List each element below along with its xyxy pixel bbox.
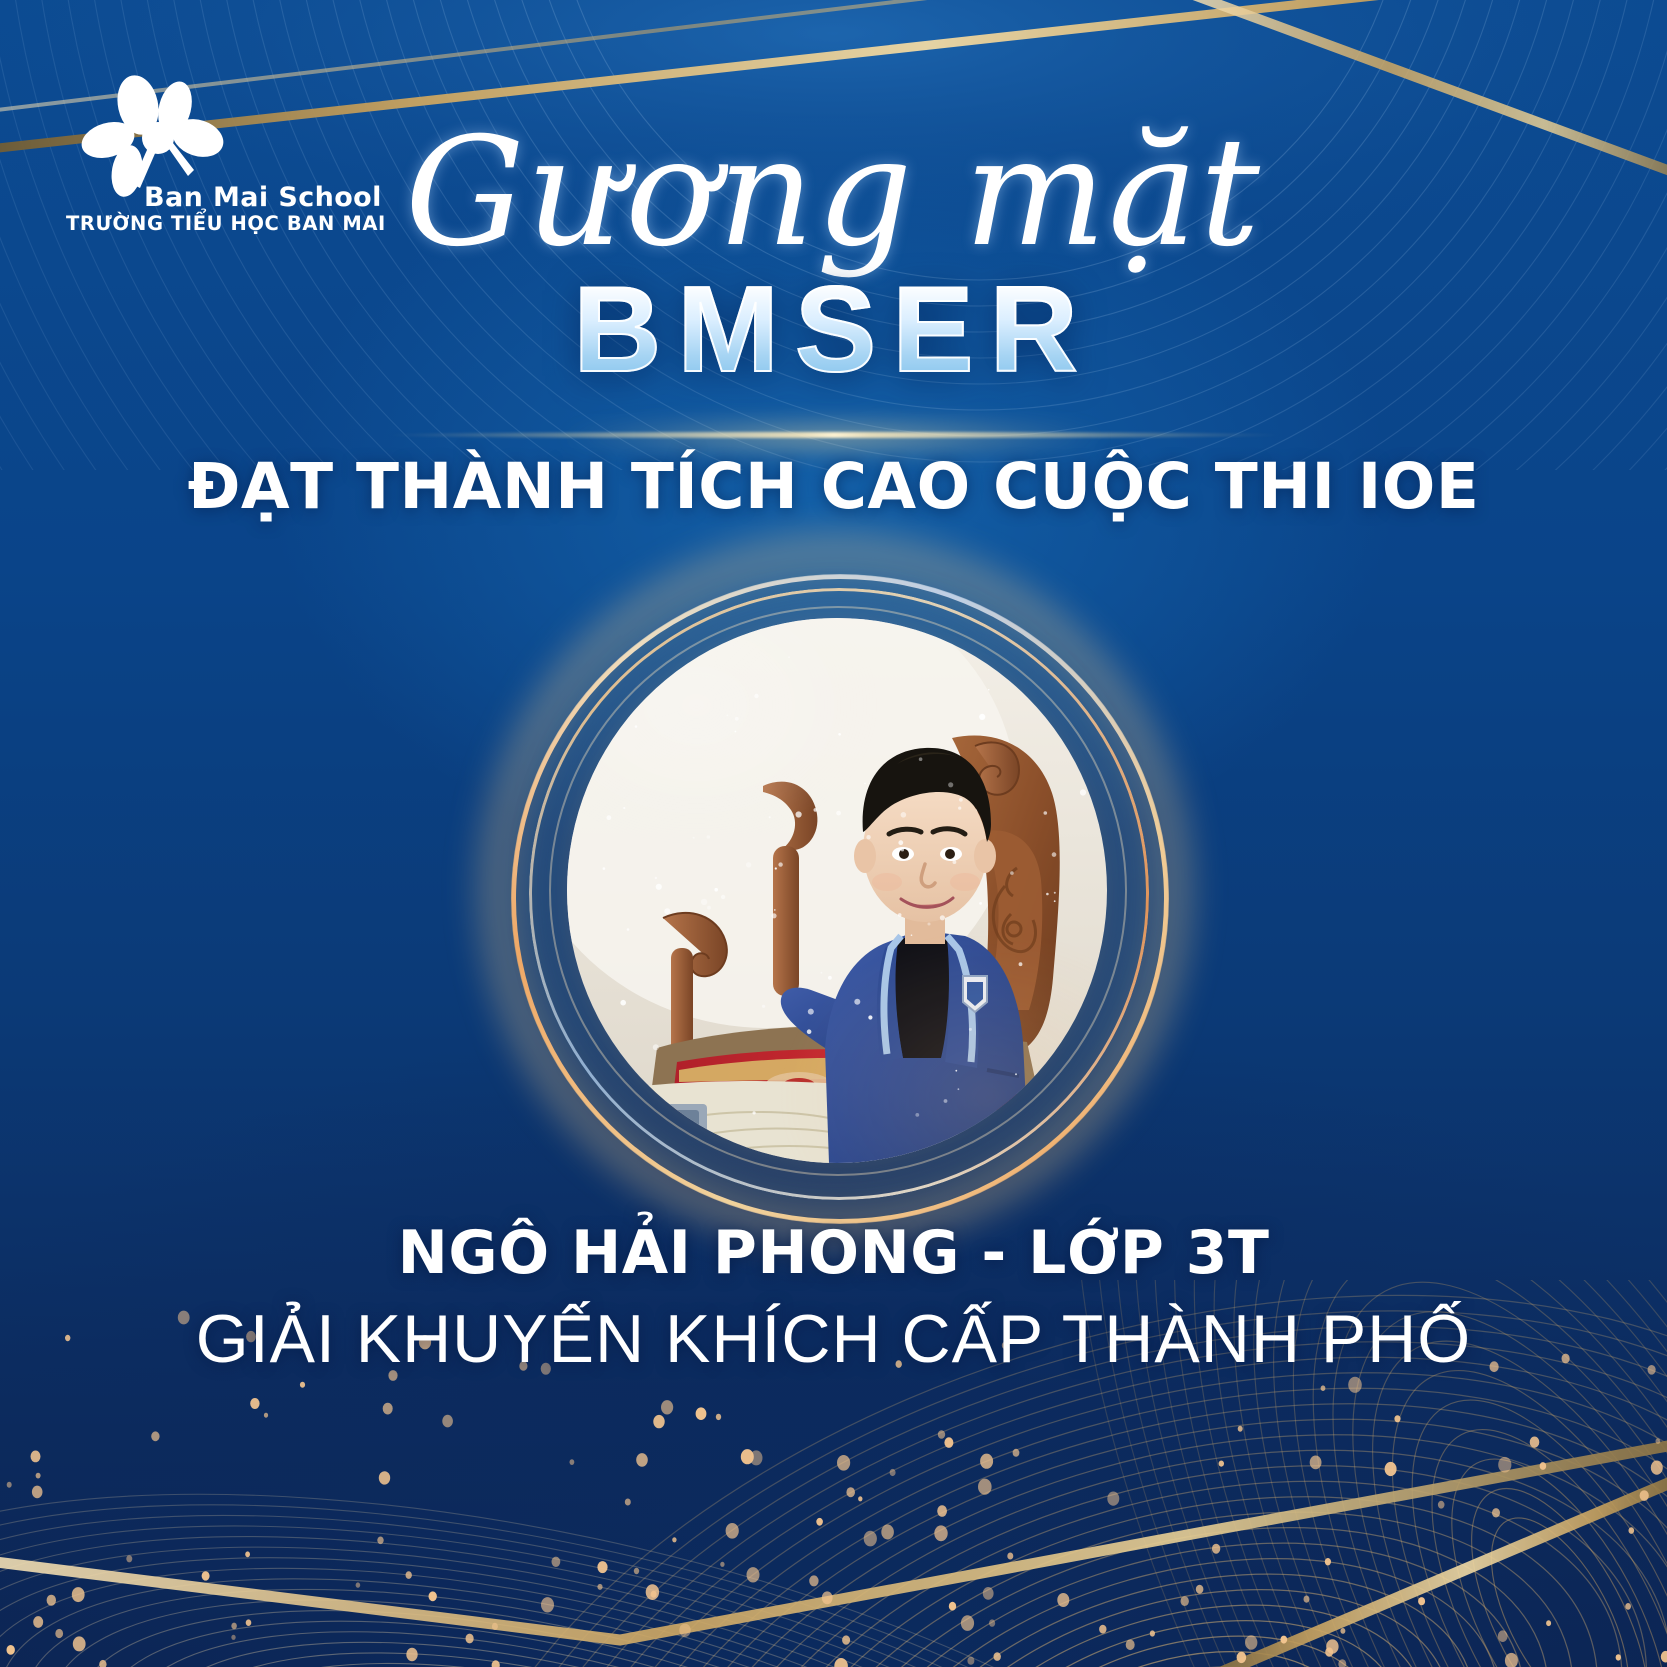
student-award: GIẢI KHUYẾN KHÍCH CẤP THÀNH PHỐ [0,1300,1667,1378]
award-poster: Ban Mai School TRƯỜNG TIỂU HỌC BAN MAI G… [0,0,1667,1667]
bmser-wordmark: BMSER [0,268,1667,390]
portrait-frame [545,600,1125,1180]
student-name-class: NGÔ HẢI PHONG - LỚP 3T [0,1218,1667,1288]
portrait-sparkles [567,618,1107,1163]
script-headline: Gương mặt [0,118,1667,268]
portrait-photo [567,618,1107,1163]
gold-flare-line [384,432,1284,438]
achievement-subtitle: ĐẠT THÀNH TÍCH CAO CUỘC THI IOE [0,452,1667,523]
